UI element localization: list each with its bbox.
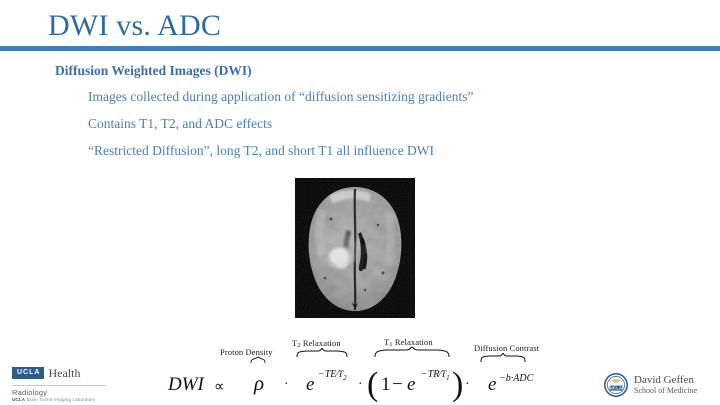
eq-dot-3: ·: [465, 377, 470, 393]
eq-t1-exponent: −TR⁄T1: [421, 369, 450, 382]
ucla-health-radiology-logo: UCLAHealth Radiology UCLA Brain Tumor Im…: [12, 364, 108, 398]
eq-diffusion-exponent: −b·ADC: [499, 373, 533, 384]
mri-noise: [295, 178, 415, 318]
eq-t1-den: T1: [441, 369, 450, 379]
geffen-line-1: David Geffen: [634, 374, 697, 386]
geffen-line-2: School of Medicine: [634, 386, 697, 396]
dwi-brain-mri-image: [295, 178, 415, 318]
svg-text:UCLA: UCLA: [610, 386, 623, 391]
eq-t1-den-sub: 1: [446, 374, 450, 382]
eq-dot-2: ·: [358, 377, 363, 393]
ucla-seal-icon: UCLA: [604, 373, 628, 397]
ucla-health-lockup: UCLAHealth: [12, 364, 108, 382]
body-bullet-3: “Restricted Diffusion”, long T2, and sho…: [88, 140, 720, 161]
label-diffusion-contrast: Diffusion Contrast: [474, 343, 539, 353]
brace-diffusion-contrast: [480, 353, 526, 362]
body-bullet-2: Contains T1, T2, and ADC effects: [88, 113, 720, 134]
eq-proton-density-rho: ρ: [254, 371, 264, 396]
body-bullet-1: Images collected during application of “…: [88, 86, 720, 107]
body-heading: Diffusion Weighted Images (DWI): [55, 62, 720, 80]
slide-body: Diffusion Weighted Images (DWI) Images c…: [0, 62, 720, 167]
eq-diffusion-exponential-base: e: [488, 374, 496, 396]
david-geffen-school-of-medicine-logo: UCLA David Geffen School of Medicine: [604, 372, 714, 400]
eq-t2-num: −TE: [318, 369, 336, 380]
eq-lhs: DWI: [168, 374, 204, 396]
title-divider: [0, 46, 720, 51]
page-title: DWI vs. ADC: [48, 8, 221, 44]
brace-t2-relaxation: [296, 348, 348, 357]
lab-ucla-prefix: UCLA: [12, 397, 25, 402]
eq-dot-1: ·: [284, 377, 289, 393]
eq-t2-den: T2: [338, 369, 347, 379]
eq-t1-num: −TR: [421, 369, 439, 380]
eq-t1-exponential-base: e: [407, 374, 415, 396]
brace-proton-density: [250, 356, 266, 363]
t2-label-rest: Relaxation: [301, 338, 341, 348]
eq-t2-exponent: −TE⁄T2: [318, 369, 347, 382]
lab-name: Brain Tumor Imaging Laboratory: [27, 397, 96, 402]
eq-paren-close: ): [452, 368, 463, 402]
eq-one: 1: [381, 374, 391, 396]
brace-t1-relaxation: [374, 347, 450, 357]
ucla-badge: UCLA: [12, 367, 44, 379]
t1-label-rest: Relaxation: [393, 337, 433, 347]
mri-svg: [295, 178, 415, 318]
eq-paren-open: (: [367, 368, 378, 402]
health-wordmark: Health: [48, 367, 80, 380]
eq-proportional: ∝: [214, 377, 225, 396]
lab-name-line: UCLA Brain Tumor Imaging Laboratory: [12, 397, 108, 403]
geffen-wordmark: David Geffen School of Medicine: [634, 374, 697, 396]
logo-divider: [12, 385, 106, 386]
eq-minus: −: [392, 374, 403, 396]
eq-t2-den-sub: 2: [343, 374, 347, 382]
department-name: Radiology: [12, 388, 108, 397]
eq-t2-exponential-base: e: [306, 374, 314, 396]
